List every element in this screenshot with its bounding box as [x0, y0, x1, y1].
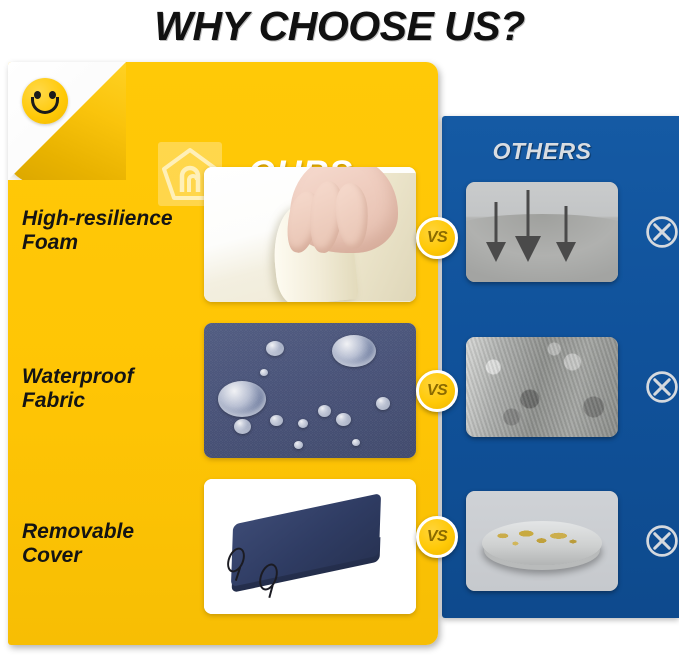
- vs-badge-3: VS: [416, 516, 458, 558]
- feature-label-3: Removable Cover: [22, 520, 208, 568]
- others-feature-image-1: [466, 182, 618, 282]
- smiley-mouth: [31, 97, 59, 114]
- vs-badge-1-label: VS: [427, 229, 447, 247]
- page-peel-corner: [8, 62, 126, 180]
- water-droplet: [234, 419, 251, 434]
- feature-label-3-line2: Cover: [22, 544, 208, 568]
- water-droplet: [218, 381, 266, 417]
- page-title: WHY CHOOSE US?: [154, 3, 524, 50]
- smiley-face-icon: [22, 78, 68, 124]
- others-feature-image-2: [466, 337, 618, 437]
- vs-badge-1: VS: [416, 217, 458, 259]
- water-droplet: [336, 413, 351, 426]
- water-droplet: [260, 369, 268, 376]
- water-droplet: [332, 335, 376, 367]
- water-droplet: [376, 397, 390, 410]
- feature-label-2-line2: Fabric: [22, 389, 208, 413]
- water-droplet: [298, 419, 308, 428]
- water-droplet: [318, 405, 331, 417]
- sagging-foam-graphic: [466, 182, 618, 282]
- feature-label-3-line1: Removable: [22, 520, 208, 544]
- water-droplet: [266, 341, 284, 356]
- ours-feature-image-2: [204, 323, 416, 458]
- ours-feature-image-3: [204, 479, 416, 614]
- water-droplet: [352, 439, 360, 446]
- water-droplet: [294, 441, 303, 449]
- feature-label-2-line1: Waterproof: [22, 365, 208, 389]
- feature-label-1-line1: High-resilience: [22, 207, 208, 231]
- vs-badge-3-label: VS: [427, 528, 447, 546]
- cross-circle-icon: [644, 523, 679, 559]
- yellow-stains: [492, 527, 582, 549]
- feature-label-1: High-resilience Foam: [22, 207, 208, 255]
- cross-circle-icon: [644, 369, 679, 405]
- others-heading: OTHERS: [442, 138, 642, 165]
- wet-stained-fabric-graphic: [466, 337, 618, 437]
- others-feature-image-3: [466, 491, 618, 591]
- title-bar: WHY CHOOSE US?: [0, 0, 679, 52]
- water-droplet: [270, 415, 283, 426]
- cross-circle-icon: [644, 214, 679, 250]
- feature-label-1-line2: Foam: [22, 231, 208, 255]
- vs-badge-2: VS: [416, 370, 458, 412]
- ours-feature-image-1: [204, 167, 416, 302]
- others-panel: OTHERS: [442, 116, 679, 618]
- feature-label-2: Waterproof Fabric: [22, 365, 208, 413]
- vs-badge-2-label: VS: [427, 382, 447, 400]
